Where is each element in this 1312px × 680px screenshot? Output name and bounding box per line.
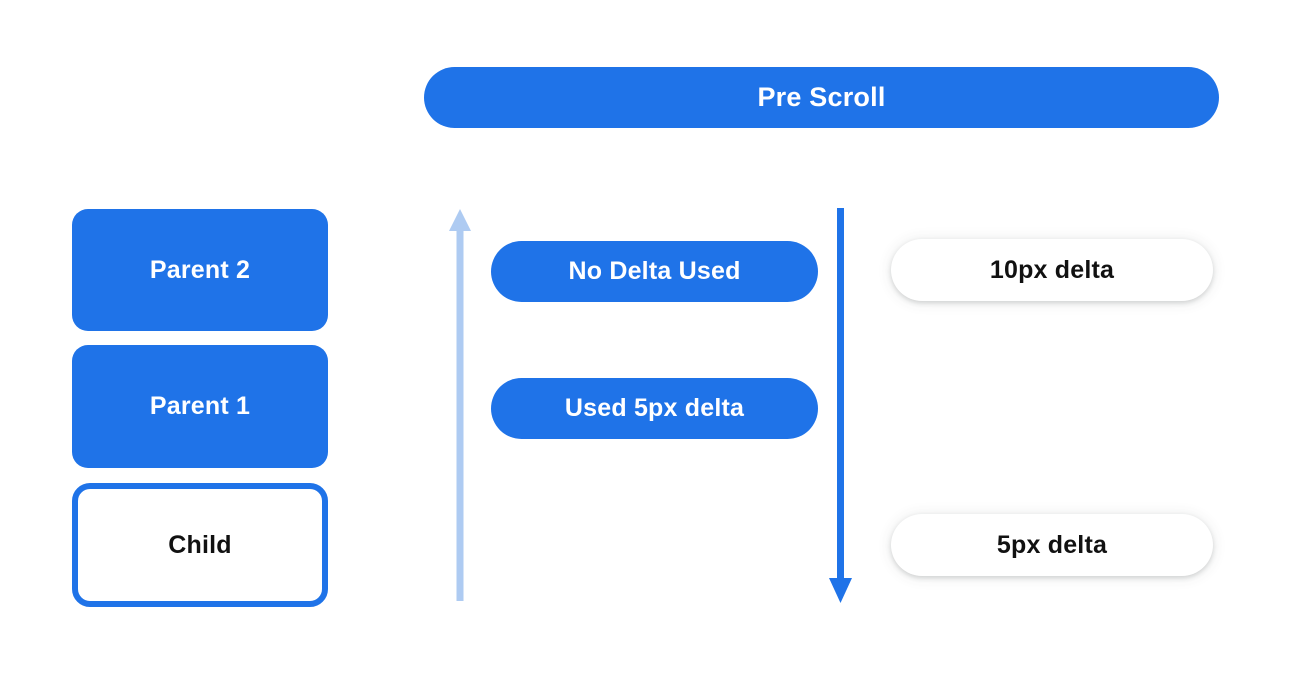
pill-used-5px-delta[interactable]: Used 5px delta: [491, 378, 818, 439]
pill-no-delta-used-label: No Delta Used: [568, 257, 740, 286]
pill-10px-delta-label: 10px delta: [990, 256, 1114, 285]
bubble-up-arrow-icon: [446, 206, 474, 606]
scroll-down-arrow-icon: [826, 206, 856, 606]
node-box-child[interactable]: Child: [72, 483, 328, 607]
node-box-child-label: Child: [168, 531, 232, 560]
node-box-parent-2[interactable]: Parent 2: [72, 209, 328, 331]
pill-used-5px-delta-label: Used 5px delta: [565, 394, 744, 423]
pre-scroll-header-pill[interactable]: Pre Scroll: [424, 67, 1219, 128]
pre-scroll-header-label: Pre Scroll: [757, 82, 885, 113]
node-box-parent-1[interactable]: Parent 1: [72, 345, 328, 468]
pill-5px-delta-label: 5px delta: [997, 531, 1107, 560]
node-box-parent-1-label: Parent 1: [150, 392, 250, 421]
pill-no-delta-used[interactable]: No Delta Used: [491, 241, 818, 302]
node-box-parent-2-label: Parent 2: [150, 256, 250, 285]
pill-5px-delta[interactable]: 5px delta: [891, 514, 1213, 576]
pill-10px-delta[interactable]: 10px delta: [891, 239, 1213, 301]
diagram-canvas: Pre Scroll Parent 2 Parent 1 Child No De…: [0, 0, 1312, 680]
